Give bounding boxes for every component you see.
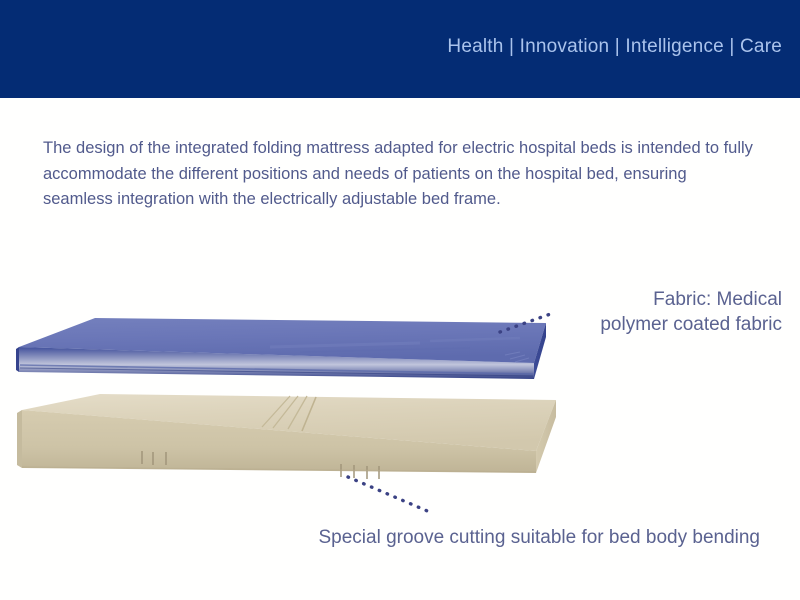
intro-paragraph: The design of the integrated folding mat… [43,136,758,213]
leader-line-groove [348,477,432,513]
header-tagline: Health | Innovation | Intelligence | Car… [447,36,782,58]
slide-canvas: Health | Innovation | Intelligence | Car… [0,0,800,600]
foam-mattress-left-end-face [17,410,22,468]
callout-groove: Special groove cutting suitable for bed … [0,527,760,549]
callout-fabric: Fabric: Medical polymer coated fabric [452,287,782,337]
blue-mattress-left-end-face [16,347,19,372]
header-band: Health | Innovation | Intelligence | Car… [0,0,800,98]
foam-mattress-graphic [17,394,556,479]
callout-fabric-line2: polymer coated fabric [452,312,782,337]
callout-fabric-line1: Fabric: Medical [452,287,782,312]
